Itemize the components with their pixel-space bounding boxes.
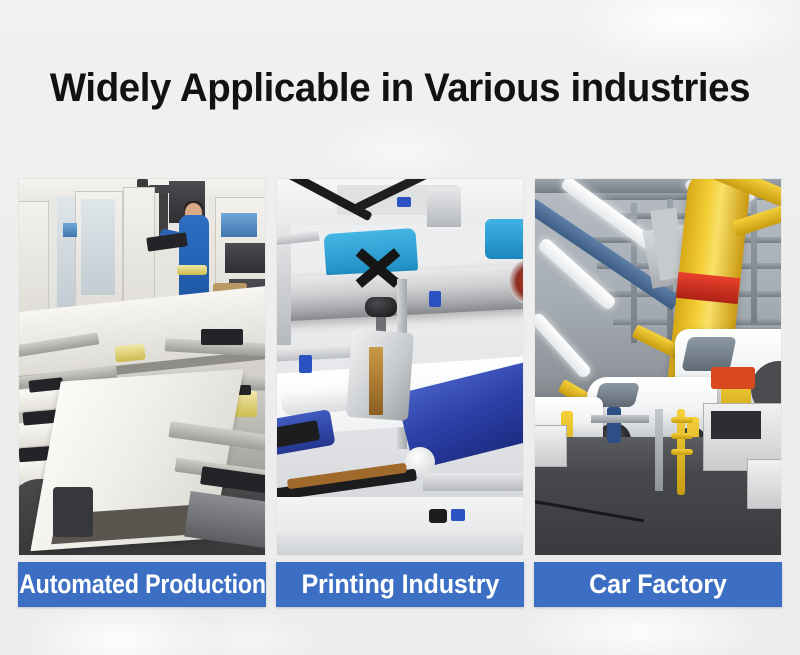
industry-card-list: Automated Production (18, 178, 783, 607)
caption-printing-industry[interactable]: Printing Industry (276, 562, 524, 607)
caption-label: Printing Industry (301, 569, 499, 600)
industry-card-automated-production[interactable]: Automated Production (18, 178, 266, 607)
photo-printing-industry (276, 178, 524, 556)
page-title: Widely Applicable in Various industries (16, 66, 784, 111)
caption-label: Car Factory (589, 569, 727, 600)
industry-card-printing-industry[interactable]: Printing Industry (276, 178, 524, 607)
caption-car-factory[interactable]: Car Factory (534, 562, 782, 607)
photo-car-factory (534, 178, 782, 556)
caption-automated-production[interactable]: Automated Production (18, 562, 266, 607)
photo-automated-production (18, 178, 266, 556)
industry-card-car-factory[interactable]: Car Factory (534, 178, 782, 607)
caption-label: Automated Production (19, 569, 266, 600)
